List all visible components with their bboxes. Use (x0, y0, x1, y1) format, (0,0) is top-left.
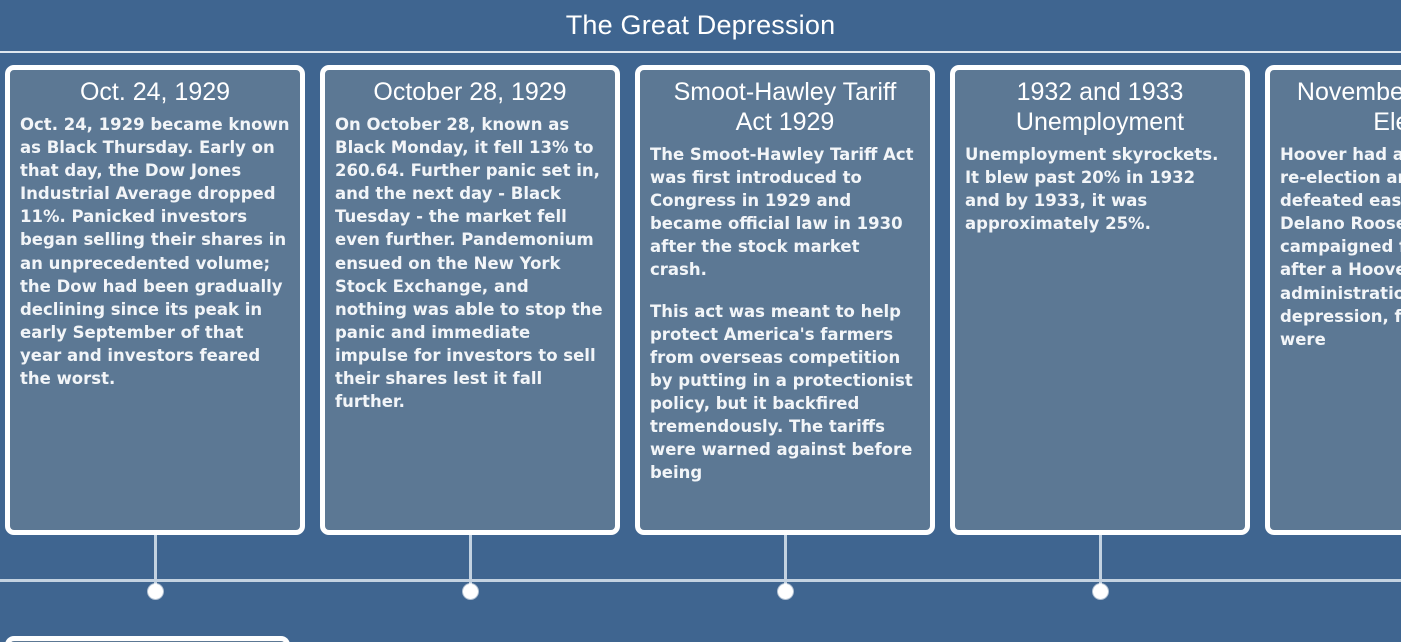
event-card-title: October 28, 1929 (335, 77, 605, 107)
event-connector-stem (784, 535, 787, 589)
timeline-event-4: 1932 and 1933 Unemployment Unemployment … (950, 65, 1250, 535)
timeline-event-3: Smoot-Hawley Tariff Act 1929 The Smoot-H… (635, 65, 935, 535)
event-card-paragraph-2: This act was meant to help protect Ameri… (650, 300, 920, 485)
timeline-event-1: Oct. 24, 1929 Oct. 24, 1929 became known… (5, 65, 305, 535)
event-timeline-dot[interactable] (778, 584, 793, 599)
event-card-paragraph: Unemployment skyrockets. It blew past 20… (965, 143, 1235, 235)
event-card-3[interactable]: Smoot-Hawley Tariff Act 1929 The Smoot-H… (635, 65, 935, 535)
event-card-title: Oct. 24, 1929 (20, 77, 290, 107)
timeline-event-2: October 28, 1929 On October 28, known as… (320, 65, 620, 535)
event-connector-stem (154, 535, 157, 589)
timeline-container[interactable]: Oct. 24, 1929 Oct. 24, 1929 became known… (0, 55, 1401, 642)
timeline-event-5: November 1932 FDR Elected Hoover had a h… (1265, 65, 1401, 535)
event-card-body: The Smoot-Hawley Tariff Act was first in… (650, 143, 920, 484)
event-card-body: Oct. 24, 1929 became known as Black Thur… (20, 113, 290, 390)
offscreen-card-top-edge[interactable] (5, 636, 290, 642)
event-card-1[interactable]: Oct. 24, 1929 Oct. 24, 1929 became known… (5, 65, 305, 535)
page-header: The Great Depression (0, 0, 1401, 53)
event-card-5[interactable]: November 1932 FDR Elected Hoover had a h… (1265, 65, 1401, 535)
event-card-paragraph: On October 28, known as Black Monday, it… (335, 113, 605, 413)
event-card-paragraph: Oct. 24, 1929 became known as Black Thur… (20, 113, 290, 390)
event-timeline-dot[interactable] (148, 584, 163, 599)
event-card-paragraph: Hoover had a hard time for re-election a… (1280, 143, 1401, 351)
event-card-4[interactable]: 1932 and 1933 Unemployment Unemployment … (950, 65, 1250, 535)
event-card-title: 1932 and 1933 Unemployment (965, 77, 1235, 137)
event-card-title: November 1932 FDR Elected (1280, 77, 1401, 137)
event-connector-stem (1099, 535, 1102, 589)
event-timeline-dot[interactable] (1093, 584, 1108, 599)
event-timeline-dot[interactable] (463, 584, 478, 599)
page-title: The Great Depression (566, 12, 836, 39)
event-card-title: Smoot-Hawley Tariff Act 1929 (650, 77, 920, 137)
event-card-paragraph: The Smoot-Hawley Tariff Act was first in… (650, 143, 920, 282)
timeline-events-row: Oct. 24, 1929 Oct. 24, 1929 became known… (5, 65, 1401, 535)
event-card-body: On October 28, known as Black Monday, it… (335, 113, 605, 413)
event-connector-stem (469, 535, 472, 589)
event-card-body: Unemployment skyrockets. It blew past 20… (965, 143, 1235, 235)
event-card-2[interactable]: October 28, 1929 On October 28, known as… (320, 65, 620, 535)
event-card-body: Hoover had a hard time for re-election a… (1280, 143, 1401, 351)
timeline-axis-line (0, 579, 1401, 582)
